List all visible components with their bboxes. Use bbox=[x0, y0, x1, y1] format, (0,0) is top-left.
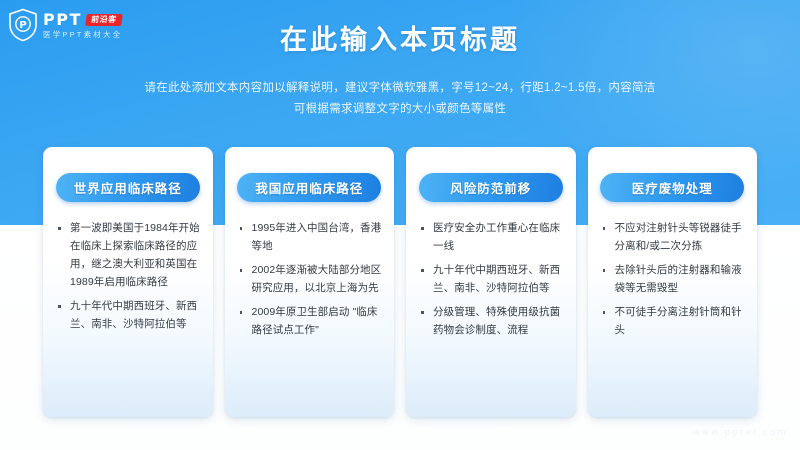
card-list: 世界应用临床路径 第一波即美国于1984年开始在临床上探索临床路径的应用，继之澳… bbox=[43, 147, 757, 417]
list-item: 不应对注射针头等锐器徒手分离和/或二次分拣 bbox=[599, 219, 747, 255]
card-bullet-list: 不应对注射针头等锐器徒手分离和/或二次分拣 去除针头后的注射器和输液袋等无需毁型… bbox=[599, 219, 747, 339]
card-title-pill[interactable]: 医疗废物处理 bbox=[600, 173, 744, 202]
card-bullet-list: 医疗安全办工作重心在临床一线 九十年代中期西班牙、新西兰、南非、沙特阿拉伯等 分… bbox=[417, 219, 565, 339]
card-title-pill[interactable]: 世界应用临床路径 bbox=[56, 173, 200, 202]
list-item: 分级管理、特殊使用级抗菌药物会诊制度、流程 bbox=[417, 303, 565, 339]
card-bullet-list: 第一波即美国于1984年开始在临床上探索临床路径的应用，继之澳大利亚和英国在19… bbox=[54, 219, 202, 333]
card-title-pill[interactable]: 风险防范前移 bbox=[419, 173, 563, 202]
content-card[interactable]: 医疗废物处理 不应对注射针头等锐器徒手分离和/或二次分拣 去除针头后的注射器和输… bbox=[588, 147, 758, 417]
page-subtitle: 请在此处添加文本内容加以解释说明，建议字体微软雅黑，字号12~24，行距1.2~… bbox=[0, 78, 800, 121]
content-card[interactable]: 我国应用临床路径 1995年进入中国台湾，香港等地 2002年逐渐被大陆部分地区… bbox=[225, 147, 395, 417]
content-card[interactable]: 风险防范前移 医疗安全办工作重心在临床一线 九十年代中期西班牙、新西兰、南非、沙… bbox=[406, 147, 576, 417]
card-title-label: 医疗废物处理 bbox=[632, 178, 713, 197]
list-item: 第一波即美国于1984年开始在临床上探索临床路径的应用，继之澳大利亚和英国在19… bbox=[54, 219, 202, 291]
list-item: 不可徒手分离注射针筒和针头 bbox=[599, 303, 747, 339]
content-card[interactable]: 世界应用临床路径 第一波即美国于1984年开始在临床上探索临床路径的应用，继之澳… bbox=[43, 147, 213, 417]
site-watermark: www.ppter.com bbox=[692, 428, 788, 438]
list-item: 去除针头后的注射器和输液袋等无需毁型 bbox=[599, 261, 747, 297]
card-bullet-list: 1995年进入中国台湾，香港等地 2002年逐渐被大陆部分地区研究应用，以北京上… bbox=[236, 219, 384, 339]
list-item: 九十年代中期西班牙、新西兰、南非、沙特阿拉伯等 bbox=[54, 297, 202, 333]
list-item: 九十年代中期西班牙、新西兰、南非、沙特阿拉伯等 bbox=[417, 261, 565, 297]
list-item: 2002年逐渐被大陆部分地区研究应用，以北京上海为先 bbox=[236, 261, 384, 297]
card-title-pill[interactable]: 我国应用临床路径 bbox=[237, 173, 381, 202]
card-title-label: 世界应用临床路径 bbox=[74, 178, 182, 197]
subtitle-line-2: 可根据需求调整文字的大小或颜色等属性 bbox=[0, 99, 800, 120]
list-item: 1995年进入中国台湾，香港等地 bbox=[236, 219, 384, 255]
list-item: 医疗安全办工作重心在临床一线 bbox=[417, 219, 565, 255]
subtitle-line-1: 请在此处添加文本内容加以解释说明，建议字体微软雅黑，字号12~24，行距1.2~… bbox=[0, 78, 800, 99]
page-title: 在此输入本页标题 bbox=[0, 18, 800, 57]
list-item: 2009年原卫生部启动 "临床路径试点工作" bbox=[236, 303, 384, 339]
card-title-label: 风险防范前移 bbox=[450, 178, 531, 197]
card-title-label: 我国应用临床路径 bbox=[255, 178, 363, 197]
